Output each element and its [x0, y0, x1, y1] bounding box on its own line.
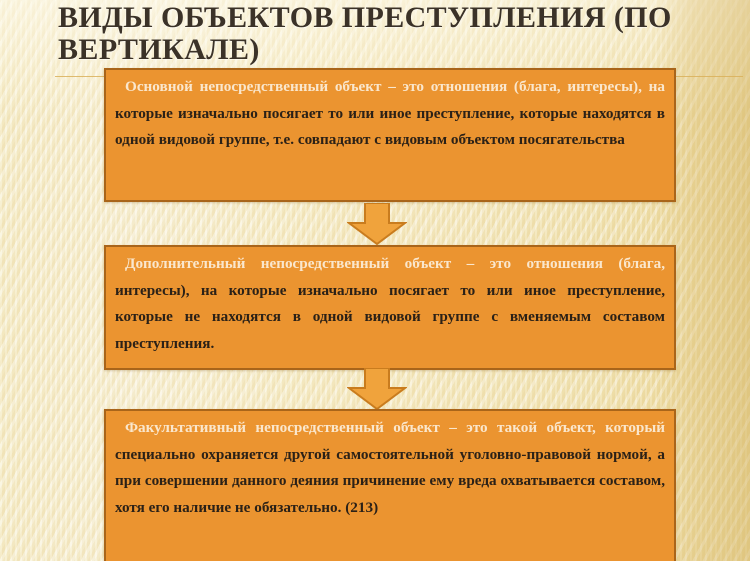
content-box-fakultativnyy-object-text: Факультативный непосредственный объект –…	[115, 415, 665, 521]
content-box-osnovnoy-object-text: Основной непосредственный объект – это о…	[115, 74, 665, 154]
presentation-slide: ВИДЫ ОБЪЕКТОВ ПРЕСТУПЛЕНИЯ (ПО ВЕРТИКАЛЕ…	[0, 0, 750, 561]
slide-title: ВИДЫ ОБЪЕКТОВ ПРЕСТУПЛЕНИЯ (ПО ВЕРТИКАЛЕ…	[58, 2, 698, 66]
content-box-dopolnitelnyy-object: Дополнительный непосредственный объект –…	[104, 245, 676, 370]
content-box-osnovnoy-object: Основной непосредственный объект – это о…	[104, 68, 676, 202]
down-arrow-2	[347, 368, 407, 410]
down-arrow-1	[347, 203, 407, 245]
content-box-fakultativnyy-object: Факультативный непосредственный объект –…	[104, 409, 676, 561]
content-box-dopolnitelnyy-object-text: Дополнительный непосредственный объект –…	[115, 251, 665, 357]
